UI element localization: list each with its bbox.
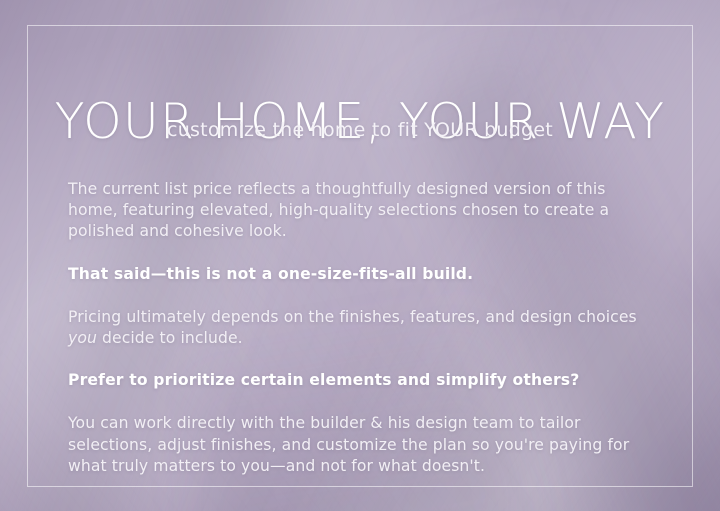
paragraph-pricing-text-after: decide to include. [97, 329, 243, 347]
paragraph-pricing-text-before: Pricing ultimately depends on the finish… [68, 308, 637, 326]
paragraph-pricing-emphasis: you [68, 329, 97, 347]
page-subtitle: customize the home to fit YOUR budget [0, 119, 720, 143]
body-copy-block: The current list price reflects a though… [68, 179, 656, 477]
paragraph-intro: The current list price reflects a though… [68, 179, 656, 243]
promo-graphic-canvas: YOUR HOME, YOUR WAY customize the home t… [0, 0, 720, 511]
paragraph-prioritize-question: Prefer to prioritize certain elements an… [68, 370, 656, 391]
content-area: YOUR HOME, YOUR WAY customize the home t… [0, 0, 720, 511]
paragraph-pricing: Pricing ultimately depends on the finish… [68, 307, 656, 349]
paragraph-work-with-builder: You can work directly with the builder &… [68, 413, 656, 477]
paragraph-not-one-size: That said—this is not a one-size-fits-al… [68, 264, 656, 285]
